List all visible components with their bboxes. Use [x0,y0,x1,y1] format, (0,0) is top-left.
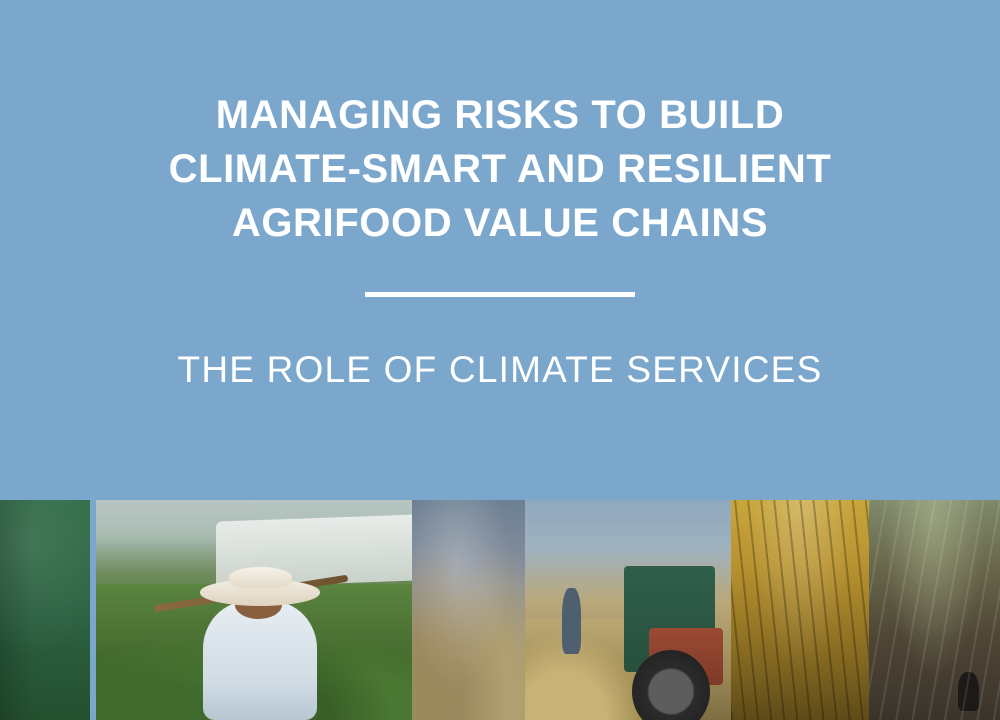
photo-dusty-field [412,500,525,720]
photo-green-field-edge [0,500,90,720]
photo-tractor-threshing [525,500,731,720]
cover-photo-strip [0,500,1000,720]
field-worker [562,588,581,654]
photo-farmer-with-hoe [96,500,412,720]
title-divider [365,292,635,297]
title-line-2: CLIMATE-SMART AND RESILIENT [50,142,950,196]
nursery-worker [958,672,979,712]
title-block: MANAGING RISKS TO BUILD CLIMATE-SMART AN… [0,0,1000,500]
page-subtitle: THE ROLE OF CLIMATE SERVICES [178,349,823,391]
farmer-hat [200,579,320,605]
farmer-body [203,601,317,720]
page-title: MANAGING RISKS TO BUILD CLIMATE-SMART AN… [50,88,950,250]
title-line-1: MANAGING RISKS TO BUILD [50,88,950,142]
photo-tree-nursery-rows [869,500,1000,720]
title-line-3: AGRIFOOD VALUE CHAINS [50,196,950,250]
report-cover: MANAGING RISKS TO BUILD CLIMATE-SMART AN… [0,0,1000,720]
photo-golden-plantation-rows [731,500,869,720]
